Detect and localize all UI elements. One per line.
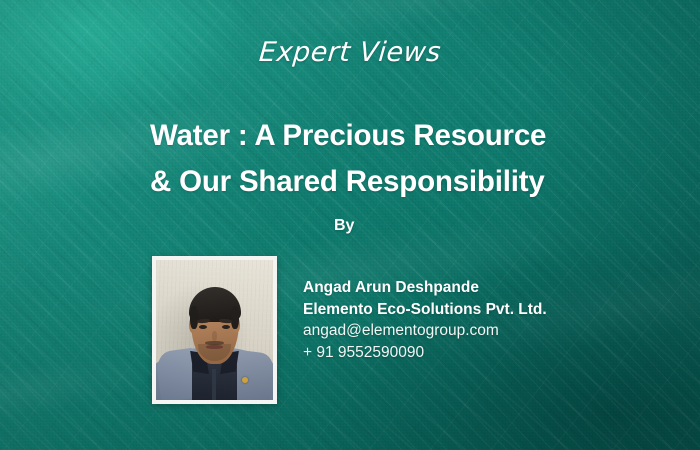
page-title-line-2: & Our Shared Responsibility bbox=[150, 159, 610, 205]
speaker-email: angad@elementogroup.com bbox=[303, 320, 547, 342]
page-title-line-1: Water : A Precious Resource bbox=[150, 113, 610, 159]
speaker-phone: + 91 9552590090 bbox=[303, 342, 547, 364]
page-title: Water : A Precious Resource & Our Shared… bbox=[150, 113, 610, 205]
eyebrow-heading: Expert Views bbox=[0, 36, 700, 70]
by-label: By bbox=[334, 216, 354, 236]
speaker-photo bbox=[156, 260, 273, 400]
speaker-organization: Elemento Eco-Solutions Pvt. Ltd. bbox=[303, 299, 547, 321]
photo-tone-overlay bbox=[156, 260, 273, 400]
speaker-name: Angad Arun Deshpande bbox=[303, 277, 547, 299]
speaker-details: Angad Arun Deshpande Elemento Eco-Soluti… bbox=[303, 277, 547, 363]
presentation-slide: Expert Views Water : A Precious Resource… bbox=[0, 0, 700, 450]
slide-content: Expert Views Water : A Precious Resource… bbox=[0, 0, 700, 450]
speaker-photo-frame bbox=[152, 256, 277, 404]
